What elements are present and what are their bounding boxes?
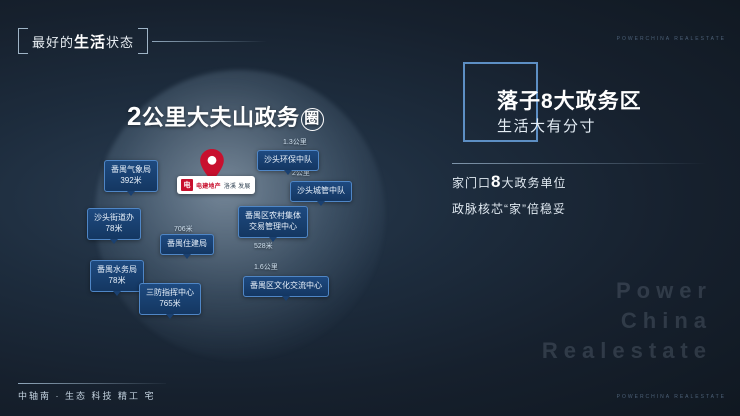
poi-bubble-shatou-chengguan[interactable]: 沙头城管中队 (290, 181, 352, 202)
poi-label: 沙头街道办 (94, 213, 134, 222)
right-line-1-number: 8 (491, 172, 501, 191)
brand-logo-icon: 电 (181, 179, 193, 191)
distance-label-5: 1.6公里 (254, 262, 278, 272)
map-title-rest: 大夫山政务 (187, 105, 300, 130)
slide-canvas: 最好的生活状态 POWERCHINA REALESTATE 2公里大夫山政务圈 … (0, 0, 740, 416)
right-title: 落子8大政务区 (497, 85, 642, 115)
center-project-label: 电 电建地产 洛溪 发展 (177, 176, 255, 194)
footer-text: 中轴南 · 生态 科技 精工 宅 (18, 389, 156, 402)
header-text: 最好的生活状态 (28, 31, 138, 52)
poi-bubble-shatou-jiedaoban[interactable]: 沙头街道办 78米 (87, 208, 141, 240)
poi-distance: 78米 (97, 276, 137, 287)
header-text-suffix: 状态 (106, 35, 134, 50)
right-divider (452, 163, 707, 164)
poi-distance: 78米 (94, 224, 134, 235)
brand-name-secondary: 洛溪 发展 (224, 181, 251, 190)
poi-bubble-panyu-zhujianju[interactable]: 番禺住建局 (160, 234, 214, 255)
poi-label: 番禺区文化交流中心 (250, 281, 322, 290)
map-title-unit: 公里 (142, 105, 187, 130)
poi-label: 番禺区农村集体 (245, 211, 301, 220)
footer-rule (18, 383, 166, 384)
distance-label-4: 528米 (254, 241, 273, 251)
right-line-2: 政脉核芯“家”倍稳妥 (452, 200, 566, 217)
right-line-1-suffix: 大政务单位 (501, 176, 566, 190)
slide-header: 最好的生活状态 (18, 28, 267, 54)
poi-label: 沙头环保中队 (264, 155, 312, 164)
poi-label: 沙头城管中队 (297, 186, 345, 195)
header-bracket-left (18, 28, 28, 54)
header-bracket-right (138, 28, 148, 54)
header-text-prefix: 最好的 (32, 35, 74, 50)
poi-bubble-panyu-shuiwuju[interactable]: 番禺水务局 78米 (90, 260, 144, 292)
header-rule (152, 41, 267, 42)
poi-label: 三防指挥中心 (146, 288, 194, 297)
poi-distance: 392米 (111, 176, 151, 187)
poi-label-line2: 交易管理中心 (245, 222, 301, 233)
map-title-number: 2 (127, 101, 142, 131)
brand-name: 电建地产 (196, 181, 221, 190)
distance-label-1: 1.3公里 (283, 137, 307, 147)
poi-bubble-shatou-huanbao[interactable]: 沙头环保中队 (257, 150, 319, 171)
watermark-power: Power (616, 278, 712, 304)
header-text-highlight: 生活 (74, 34, 106, 51)
poi-label: 番禺气象局 (111, 165, 151, 174)
watermark-realestate: Realestate (542, 338, 712, 364)
poi-bubble-qixiangju[interactable]: 番禺气象局 392米 (104, 160, 158, 192)
map-title: 2公里大夫山政务圈 (127, 100, 324, 132)
poi-bubble-wenhua-jiaoliu[interactable]: 番禺区文化交流中心 (243, 276, 329, 297)
poi-label: 番禺住建局 (167, 239, 207, 248)
right-line-1-prefix: 家门口 (452, 176, 491, 190)
right-subtitle: 生活大有分寸 (497, 115, 596, 136)
header-faint-watermark: POWERCHINA REALESTATE (617, 36, 726, 42)
map-title-circled: 圈 (301, 108, 324, 131)
footer-faint-watermark: POWERCHINA REALESTATE (617, 394, 726, 400)
poi-bubble-sanfang-zhihui[interactable]: 三防指挥中心 765米 (139, 283, 201, 315)
poi-distance: 765米 (146, 299, 194, 310)
distance-label-3: 706米 (174, 224, 193, 234)
right-line-1: 家门口8大政务单位 (452, 172, 567, 192)
poi-label: 番禺水务局 (97, 265, 137, 274)
watermark-china: China (621, 308, 712, 334)
poi-bubble-nongcun-jiaoyi[interactable]: 番禺区农村集体 交易管理中心 (238, 206, 308, 238)
